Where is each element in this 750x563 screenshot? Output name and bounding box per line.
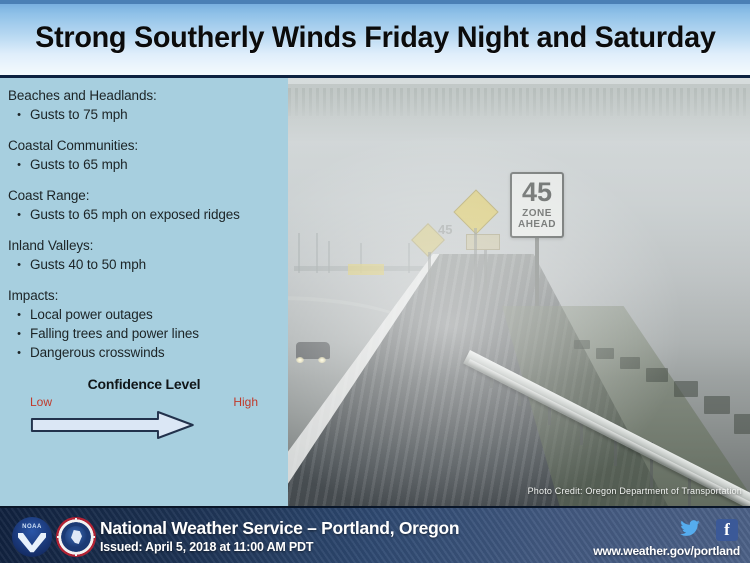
headlight-icon: [318, 357, 326, 363]
confidence-section: Confidence Level Low High: [8, 376, 280, 440]
bullet-dot-icon: •: [8, 325, 30, 343]
gantry-sign: [348, 264, 384, 275]
forecast-group-heading: Coastal Communities:: [8, 138, 280, 153]
forecast-bullet: •Falling trees and power lines: [8, 325, 280, 343]
forecast-group-heading: Beaches and Headlands:: [8, 88, 280, 103]
forecast-group-heading: Inland Valleys:: [8, 238, 280, 253]
confidence-arrow-icon: [30, 410, 262, 440]
bullet-dot-icon: •: [8, 256, 30, 274]
speed-sign-zone: ZONE: [522, 208, 552, 219]
forecast-bullet-text: Gusts to 65 mph: [30, 156, 280, 174]
sign-post: [474, 228, 477, 292]
forecast-group-heading: Coast Range:: [8, 188, 280, 203]
weather-graphic: Strong Southerly Winds Friday Night and …: [0, 0, 750, 563]
forecast-bullet: •Gusts 40 to 50 mph: [8, 256, 280, 274]
confidence-title: Confidence Level: [8, 376, 280, 392]
bullet-dot-icon: •: [8, 306, 30, 324]
forecast-info-panel: Beaches and Headlands:•Gusts to 75 mphCo…: [0, 78, 288, 506]
forecast-groups: Beaches and Headlands:•Gusts to 75 mphCo…: [8, 88, 280, 362]
forecast-group: Impacts:•Local power outages•Falling tre…: [8, 288, 280, 362]
confidence-arrow-wrap: [30, 410, 262, 440]
sign-post: [428, 252, 431, 296]
forecast-bullet-text: Local power outages: [30, 306, 280, 324]
forecast-group: Coast Range:•Gusts to 65 mph on exposed …: [8, 188, 280, 224]
forecast-bullet: •Dangerous crosswinds: [8, 344, 280, 362]
forecast-group: Coastal Communities:•Gusts to 65 mph: [8, 138, 280, 174]
confidence-low-label: Low: [30, 395, 52, 409]
secondary-sign: [466, 234, 500, 250]
confidence-high-label: High: [233, 395, 258, 409]
noaa-logo-label: NOAA: [12, 524, 52, 530]
footer-issued: Issued: April 5, 2018 at 11:00 AM PDT: [100, 540, 313, 554]
noaa-logo: NOAA: [12, 517, 52, 557]
facebook-icon[interactable]: f: [716, 519, 738, 541]
forecast-group: Inland Valleys:•Gusts 40 to 50 mph: [8, 238, 280, 274]
photo-credit: Photo Credit: Oregon Department of Trans…: [528, 486, 742, 496]
speed-sign-post: [535, 238, 539, 306]
forecast-bullet-text: Gusts to 65 mph on exposed ridges: [30, 206, 280, 224]
nws-logo: [56, 517, 96, 557]
forecast-bullet-text: Dangerous crosswinds: [30, 344, 280, 362]
twitter-icon[interactable]: [680, 520, 700, 538]
storm-photo: 45 45 ZONE AHEAD Photo Credit: Oregon De…: [288, 78, 750, 506]
forecast-group-heading: Impacts:: [8, 288, 280, 303]
bullet-dot-icon: •: [8, 106, 30, 124]
headlight-icon: [296, 357, 304, 363]
forecast-bullet: •Gusts to 65 mph on exposed ridges: [8, 206, 280, 224]
forecast-bullet: •Gusts to 65 mph: [8, 156, 280, 174]
guardrail-highlight: [467, 359, 750, 506]
bullet-dot-icon: •: [8, 156, 30, 174]
footer-url[interactable]: www.weather.gov/portland: [593, 544, 740, 558]
forecast-bullet: •Local power outages: [8, 306, 280, 324]
treeline: [288, 84, 750, 142]
sign-post: [484, 250, 487, 300]
forecast-bullet: •Gusts to 75 mph: [8, 106, 280, 124]
forecast-bullet-text: Gusts to 75 mph: [30, 106, 280, 124]
speed-sign-ahead: AHEAD: [518, 219, 556, 230]
noaa-seagull-icon: [18, 533, 46, 553]
forecast-bullet-text: Gusts 40 to 50 mph: [30, 256, 280, 274]
bullet-dot-icon: •: [8, 344, 30, 362]
bullet-dot-icon: •: [8, 206, 30, 224]
speed-limit-sign: 45 ZONE AHEAD: [510, 172, 564, 238]
forecast-bullet-text: Falling trees and power lines: [30, 325, 280, 343]
facebook-glyph: f: [724, 521, 730, 538]
confidence-labels: Low High: [8, 395, 280, 409]
forecast-group: Beaches and Headlands:•Gusts to 75 mph: [8, 88, 280, 124]
speed-sign-number: 45: [522, 180, 552, 206]
footer-bar: NOAA National Weather Service – Portland…: [0, 506, 750, 563]
title-bar: Strong Southerly Winds Friday Night and …: [0, 0, 750, 78]
distant-speed-sign: 45: [438, 222, 452, 237]
page-title: Strong Southerly Winds Friday Night and …: [35, 21, 715, 55]
footer-agency: National Weather Service – Portland, Ore…: [100, 518, 459, 539]
guardrail: [470, 350, 750, 506]
